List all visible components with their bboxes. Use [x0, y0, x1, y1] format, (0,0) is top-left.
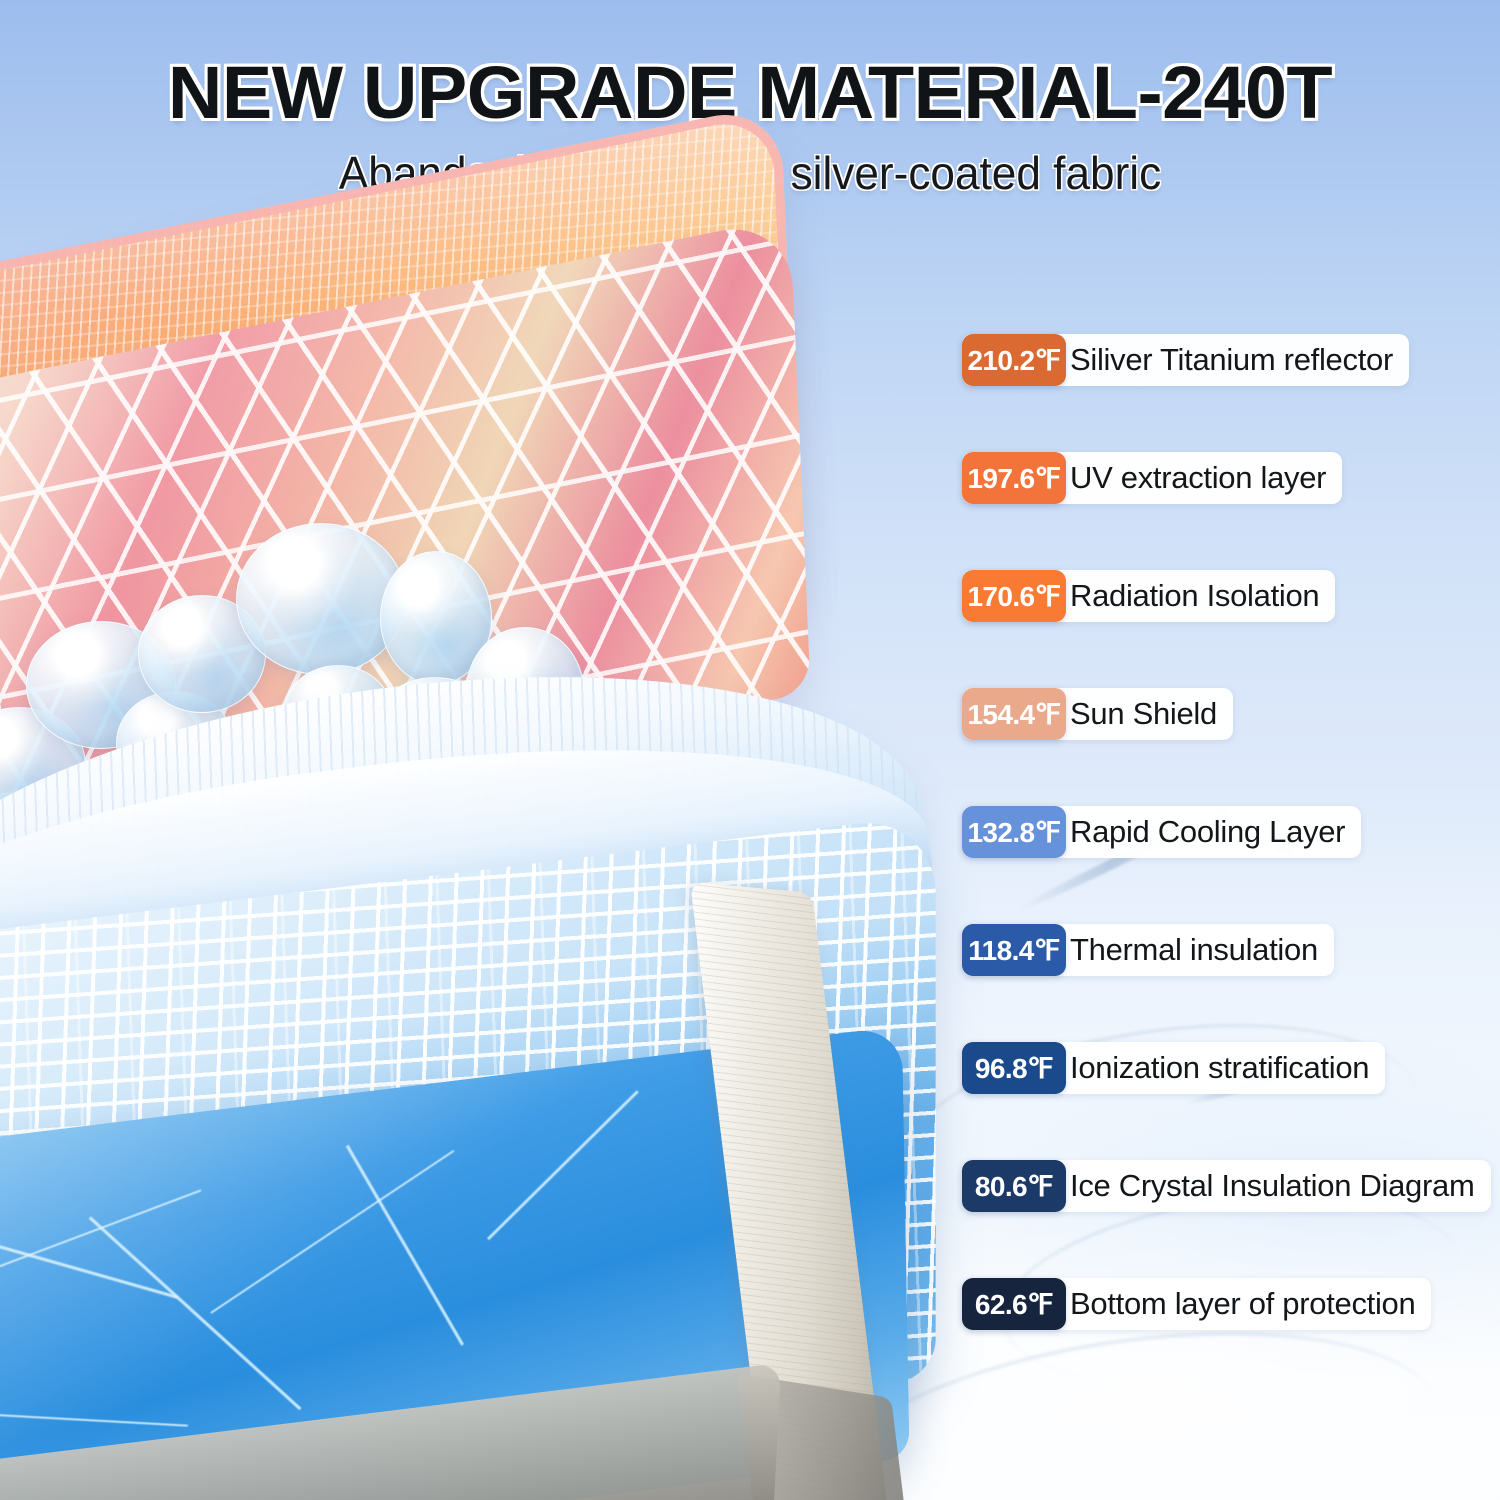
spec-label: Ionization stratification: [1070, 1050, 1369, 1086]
spec-row[interactable]: Ice Crystal Insulation Diagram 80.6℉: [962, 1160, 1492, 1212]
spec-label: UV extraction layer: [1070, 460, 1326, 496]
temperature-badge: 132.8℉: [962, 806, 1066, 858]
spec-label: Radiation Isolation: [1070, 578, 1319, 614]
temperature-badge: 154.4℉: [962, 688, 1066, 740]
spec-row[interactable]: Thermal insulation 118.4℉: [962, 924, 1492, 976]
spec-row[interactable]: Sun Shield 154.4℉: [962, 688, 1492, 740]
spec-label: Bottom layer of protection: [1070, 1286, 1415, 1322]
temperature-badge: 170.6℉: [962, 570, 1066, 622]
infographic-canvas: NEW UPGRADE MATERIAL-240T Abandoning tra…: [0, 0, 1500, 1500]
spec-label: Rapid Cooling Layer: [1070, 814, 1345, 850]
temperature-badge: 197.6℉: [962, 452, 1066, 504]
spec-row[interactable]: Bottom layer of protection 62.6℉: [962, 1278, 1492, 1330]
spec-row[interactable]: Rapid Cooling Layer 132.8℉: [962, 806, 1492, 858]
spec-row[interactable]: UV extraction layer 197.6℉: [962, 452, 1492, 504]
temperature-badge: 96.8℉: [962, 1042, 1066, 1094]
spec-row[interactable]: Radiation Isolation 170.6℉: [962, 570, 1492, 622]
fabric-layers-illustration: [0, 195, 970, 1500]
spec-label: Thermal insulation: [1070, 932, 1318, 968]
temperature-badge: 210.2℉: [962, 334, 1066, 386]
spec-row[interactable]: Ionization stratification 96.8℉: [962, 1042, 1492, 1094]
temperature-spec-list: Siliver Titanium reflector 210.2℉ UV ext…: [962, 334, 1492, 1396]
spec-label: Ice Crystal Insulation Diagram: [1070, 1168, 1475, 1204]
temperature-badge: 80.6℉: [962, 1160, 1066, 1212]
spec-row[interactable]: Siliver Titanium reflector 210.2℉: [962, 334, 1492, 386]
spec-label: Siliver Titanium reflector: [1070, 342, 1393, 378]
spec-label: Sun Shield: [1070, 696, 1217, 732]
temperature-badge: 118.4℉: [962, 924, 1066, 976]
temperature-badge: 62.6℉: [962, 1278, 1066, 1330]
